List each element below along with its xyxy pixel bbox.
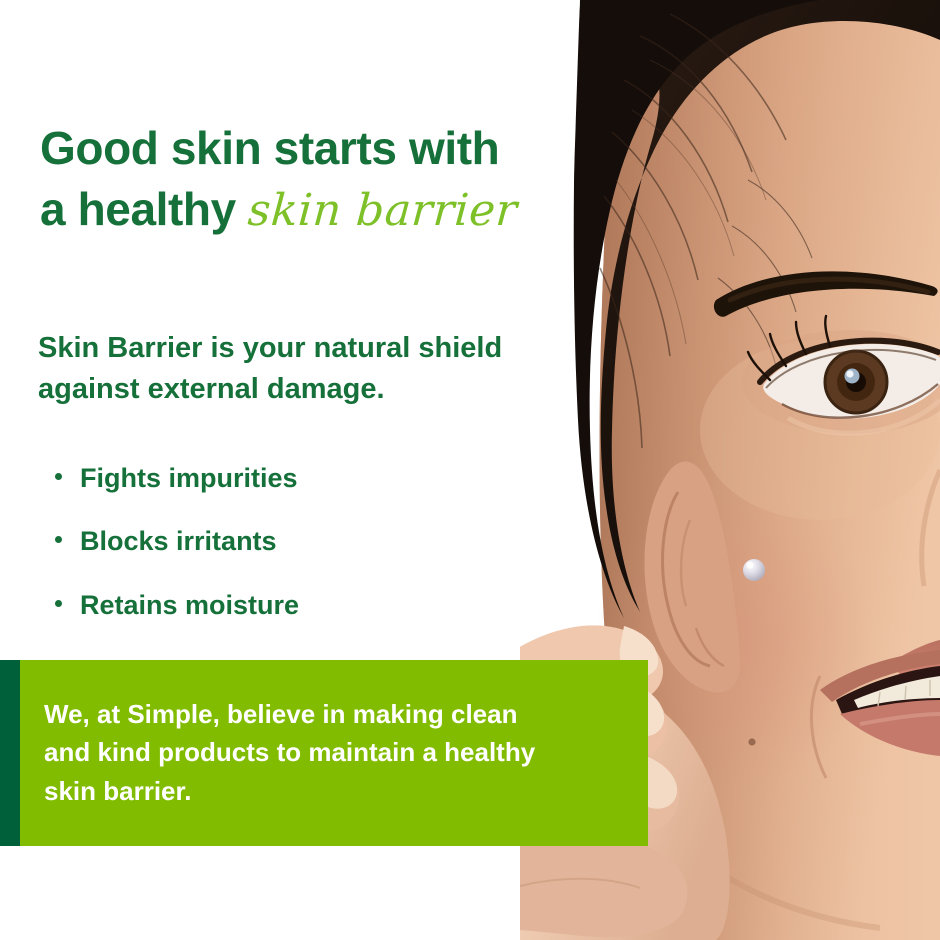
benefits-list: Fights impurities Blocks irritants Retai…	[52, 462, 492, 652]
bullet-dot-icon	[55, 600, 62, 607]
list-item: Retains moisture	[52, 589, 492, 621]
list-item: Fights impurities	[52, 462, 492, 494]
headline-script-accent: skin barrier	[246, 182, 519, 240]
banner-left-accent-bar	[0, 660, 20, 846]
bullet-dot-icon	[55, 536, 62, 543]
subheadline: Skin Barrier is your natural shield agai…	[38, 328, 558, 410]
benefit-label: Fights impurities	[80, 463, 298, 493]
page-title: Good skin starts with a healthy skin bar…	[40, 118, 580, 240]
advertisement-canvas: Good skin starts with a healthy skin bar…	[0, 0, 940, 940]
benefit-label: Retains moisture	[80, 590, 299, 620]
list-item: Blocks irritants	[52, 525, 492, 557]
headline-line-2-plain: a healthy	[40, 183, 248, 235]
headline-line-1: Good skin starts with	[40, 118, 580, 179]
brand-statement-text: We, at Simple, believe in making clean a…	[44, 695, 544, 810]
bullet-dot-icon	[55, 473, 62, 480]
benefit-label: Blocks irritants	[80, 526, 277, 556]
headline-line-2: a healthy skin barrier	[40, 179, 580, 240]
